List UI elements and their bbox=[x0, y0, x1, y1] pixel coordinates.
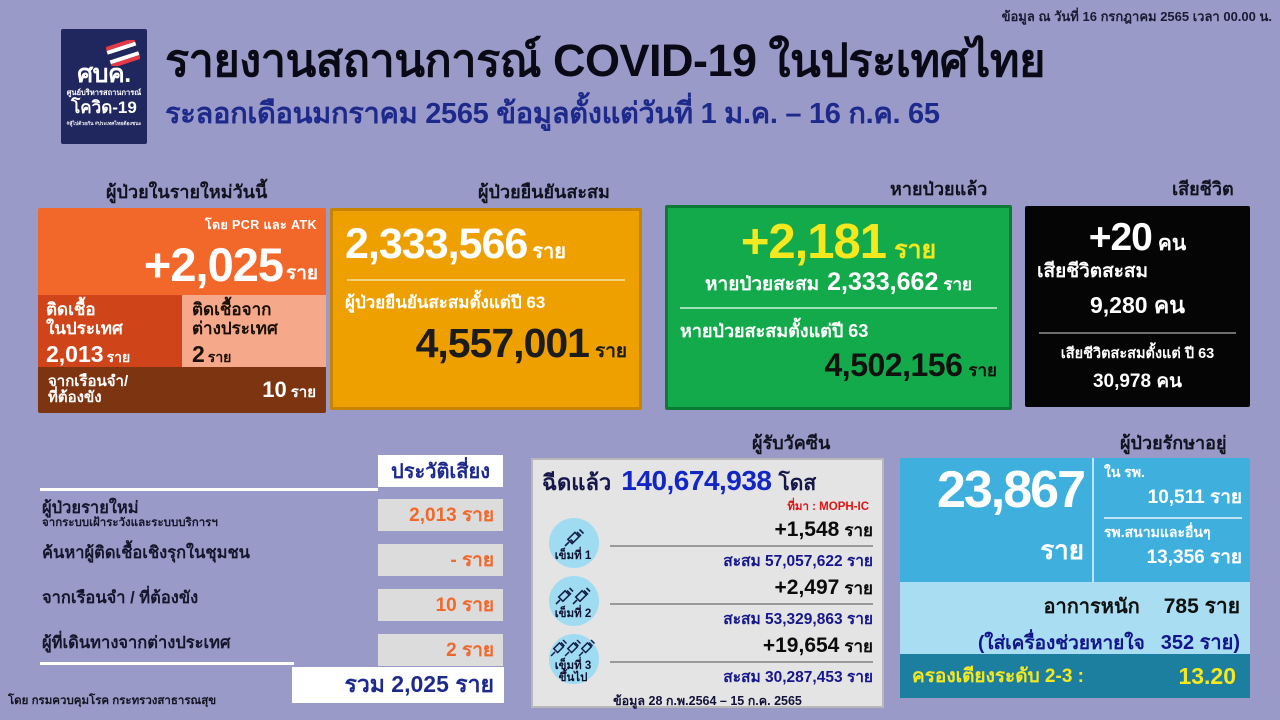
cumulative-since63-label: ผู้ป่วยยืนยันสะสมตั้งแต่ปี 63 bbox=[345, 289, 627, 316]
divider bbox=[1039, 332, 1236, 334]
prison-value-block: 10ราย bbox=[262, 377, 316, 404]
risk-row: จากเรือนจำ / ที่ต้องขัง 10 ราย bbox=[34, 589, 504, 627]
new-cases-method-note: โดย PCR และ ATK bbox=[205, 215, 317, 235]
domestic-cases-cell: ติดเชื้อ ในประเทศ 2,013ราย bbox=[38, 295, 182, 367]
recovered-value-block: +2,181ราย bbox=[680, 214, 997, 270]
bed-occupancy-row: ครองเตียงระดับ 2-3 : 13.20 bbox=[900, 654, 1250, 698]
dose-3-numbers: +19,654ราย สะสม 30,287,453 ราย bbox=[604, 633, 873, 689]
dose-2-label-line1: เข็มที่ 2 bbox=[555, 608, 592, 620]
caption-vaccine: ผู้รับวัคซีน bbox=[752, 434, 830, 452]
divider bbox=[40, 662, 294, 665]
page-subtitle: ระลอกเดือนมกราคม 2565 ข้อมูลตั้งแต่วันที… bbox=[165, 99, 1265, 131]
page-title: รายงานสถานการณ์ COVID-19 ในประเทศไทย bbox=[165, 37, 1265, 86]
recovered-since63-unit: ราย bbox=[968, 361, 997, 380]
risk-row-label: จากเรือนจำ / ที่ต้องขัง bbox=[42, 589, 372, 607]
recovered-since63-label: หายป่วยสะสมตั้งแต่ปี 63 bbox=[680, 316, 997, 345]
vaccine-injected-value: 140,674,938 bbox=[621, 465, 771, 497]
dose-1-new-value: +1,548 bbox=[775, 518, 840, 541]
imported-unit: ราย bbox=[208, 349, 232, 365]
divider bbox=[610, 661, 873, 663]
dose-3-label: เข็มที่ 3 ขึ้นไป bbox=[555, 660, 592, 684]
vaccine-injected-label: ฉีดแล้ว bbox=[542, 465, 611, 500]
card-vaccine: ฉีดแล้ว 140,674,938 โดส ที่มา : MOPH-IC … bbox=[531, 458, 884, 708]
syringe-icon bbox=[560, 528, 586, 550]
card-treatment: 23,867 ราย ใน รพ. 10,511 ราย รพ.สนามและอ… bbox=[900, 458, 1250, 706]
logo-hashtags: #สู้ไปด้วยกัน #ประเทศไทยต้องชนะ bbox=[67, 121, 142, 127]
domestic-value-block: 2,013ราย bbox=[46, 341, 174, 369]
divider bbox=[40, 488, 378, 491]
deaths-value-block: +20คน bbox=[1037, 216, 1238, 260]
dose-3-label-line2: ขึ้นไป bbox=[559, 672, 588, 684]
infographic-root: ข้อมูล ณ วันที่ 16 กรกฎาคม 2565 เวลา 00.… bbox=[0, 0, 1280, 720]
imported-cases-cell: ติดเชื้อจาก ต่างประเทศ 2ราย bbox=[182, 295, 326, 367]
recovered-since63-block: 4,502,156ราย bbox=[680, 347, 997, 384]
cumulative-since63-block: 4,557,001ราย bbox=[345, 320, 627, 367]
ventilator-label: (ใส่เครื่องช่วยหายใจ bbox=[978, 628, 1145, 658]
dose-1-cumulative: สะสม 57,057,622 ราย bbox=[610, 548, 873, 573]
hospital-value: 10,511 ราย bbox=[1104, 482, 1242, 512]
dose-1-new-unit: ราย bbox=[844, 521, 873, 540]
deaths-since63-value: 30,978 คน bbox=[1037, 366, 1238, 396]
risk-row-label-main: ค้นหาผู้ติดเชื้อเชิงรุกในชุมชน bbox=[42, 544, 372, 562]
cumulative-since63-value: 4,557,001 bbox=[416, 320, 589, 366]
card-recovered: +2,181ราย หายป่วยสะสม2,333,662ราย หายป่ว… bbox=[665, 205, 1012, 410]
severe-row: อาการหนัก 785 ราย bbox=[910, 590, 1240, 623]
divider bbox=[680, 307, 997, 309]
recovered-cum-value: 2,333,662 bbox=[827, 268, 938, 296]
vaccine-dose-row: เข็มที่ 1 +1,548ราย สะสม 57,057,622 ราย bbox=[542, 516, 873, 574]
imported-label-line2: ต่างประเทศ bbox=[192, 319, 318, 338]
risk-history-section: ประวัติเสี่ยง ผู้ป่วยรายใหม่ จากระบบเฝ้า… bbox=[34, 455, 504, 705]
vaccine-headline: ฉีดแล้ว 140,674,938 โดส bbox=[542, 465, 873, 500]
divider bbox=[610, 603, 873, 605]
vaccine-dose-row: เข็มที่ 3 ขึ้นไป +19,654ราย สะสม 30,287,… bbox=[542, 632, 873, 690]
new-cases-breakdown: ติดเชื้อ ในประเทศ 2,013ราย ติดเชื้อจาก ต… bbox=[38, 295, 326, 367]
risk-row-value: 10 ราย bbox=[378, 589, 503, 621]
deaths-since63-label: เสียชีวิตสะสมตั้งแต่ ปี 63 bbox=[1037, 342, 1238, 365]
new-cases-value-block: +2,025ราย bbox=[38, 237, 318, 292]
bed-occupancy-value: 13.20 bbox=[1178, 663, 1236, 690]
domestic-value: 2,013 bbox=[46, 341, 104, 367]
logo-acronym: ศบค. bbox=[77, 62, 130, 87]
prison-cases-cell: จากเรือนจำ/ ที่ต้องขัง 10ราย bbox=[38, 367, 326, 413]
domestic-label-line1: ติดเชื้อ bbox=[46, 300, 174, 319]
deaths-value: +20 bbox=[1089, 216, 1152, 259]
risk-row-label: ผู้ที่เดินทางจากต่างประเทศ bbox=[42, 634, 372, 652]
prison-label-line2: ที่ต้องขัง bbox=[48, 390, 262, 407]
deaths-unit: คน bbox=[1158, 232, 1186, 255]
dose-1-label: เข็มที่ 1 bbox=[555, 550, 592, 562]
dose-3-icon-group: เข็มที่ 3 ขึ้นไป bbox=[542, 634, 604, 688]
field-hospital-label: รพ.สนามและอื่นๆ bbox=[1104, 524, 1242, 540]
cumulative-value: 2,333,566 bbox=[345, 220, 527, 268]
divider bbox=[610, 545, 873, 547]
thai-flag-icon bbox=[106, 40, 140, 66]
cumulative-since63-unit: ราย bbox=[595, 341, 627, 362]
deaths-cum-label: เสียชีวิตสะสม bbox=[1037, 256, 1238, 286]
cumulative-value-block: 2,333,566ราย bbox=[345, 220, 627, 269]
risk-row-label: ค้นหาผู้ติดเชื้อเชิงรุกในชุมชน bbox=[42, 544, 372, 562]
caption-deaths: เสียชีวิต bbox=[1172, 180, 1234, 198]
treatment-severe-section: อาการหนัก 785 ราย (ใส่เครื่องช่วยหายใจ 3… bbox=[900, 582, 1250, 654]
risk-history-total: รวม 2,025 ราย bbox=[292, 667, 504, 703]
vaccine-injected-unit: โดส bbox=[779, 467, 817, 500]
vaccine-dose-row: เข็มที่ 2 +2,497ราย สะสม 53,329,863 ราย bbox=[542, 574, 873, 632]
dose-3-new-unit: ราย bbox=[844, 637, 873, 656]
risk-row-label: ผู้ป่วยรายใหม่ จากระบบเฝ้าระวังและระบบบร… bbox=[42, 499, 372, 530]
caption-recovered: หายป่วยแล้ว bbox=[890, 180, 987, 198]
data-timestamp: ข้อมูล ณ วันที่ 16 กรกฎาคม 2565 เวลา 00.… bbox=[900, 6, 1272, 27]
divider bbox=[347, 279, 625, 281]
cccsa-logo: ศบค. ศูนย์บริหารสถานการณ์ โควิด-19 #สู้ไ… bbox=[61, 29, 147, 144]
risk-row-label-main: จากเรือนจำ / ที่ต้องขัง bbox=[42, 589, 372, 607]
severe-label: อาการหนัก bbox=[1043, 590, 1139, 622]
hospital-label: ใน รพ. bbox=[1104, 464, 1242, 480]
new-cases-unit: ราย bbox=[286, 263, 318, 284]
dose-1-new-block: +1,548ราย bbox=[610, 517, 873, 544]
risk-row-label-main: ผู้ป่วยรายใหม่ bbox=[42, 499, 372, 517]
syringe-icon bbox=[554, 586, 592, 608]
card-new-cases: โดย PCR และ ATK +2,025ราย ติดเชื้อ ในประ… bbox=[38, 208, 326, 413]
risk-row-label-sub: จากระบบเฝ้าระวังและระบบบริการฯ bbox=[42, 517, 372, 530]
dose-2-new-block: +2,497ราย bbox=[610, 575, 873, 602]
dose-2-cumulative: สะสม 53,329,863 ราย bbox=[610, 606, 873, 631]
recovered-since63-value: 4,502,156 bbox=[825, 347, 963, 383]
dose-2-icon-group: เข็มที่ 2 bbox=[542, 576, 604, 630]
treatment-total-value: 23,867 bbox=[904, 464, 1084, 516]
prison-label: จากเรือนจำ/ ที่ต้องขัง bbox=[48, 374, 262, 407]
prison-value: 10 bbox=[262, 377, 286, 402]
recovered-value: +2,181 bbox=[741, 215, 886, 269]
risk-history-header: ประวัติเสี่ยง bbox=[378, 455, 503, 487]
logo-subtitle: ศูนย์บริหารสถานการณ์ bbox=[67, 88, 141, 97]
deaths-cum-value: 9,280 คน bbox=[1037, 288, 1238, 324]
caption-cumulative: ผู้ป่วยยืนยันสะสม bbox=[478, 183, 610, 201]
bed-occupancy-label: ครองเตียงระดับ 2-3 : bbox=[912, 661, 1178, 691]
domestic-label-line2: ในประเทศ bbox=[46, 319, 174, 338]
dose-2-new-value: +2,497 bbox=[775, 576, 840, 599]
new-cases-value: +2,025 bbox=[144, 238, 283, 291]
risk-row-value: 2 ราย bbox=[378, 634, 503, 666]
treatment-breakdown: ใน รพ. 10,511 ราย รพ.สนามและอื่นๆ 13,356… bbox=[1092, 458, 1250, 582]
risk-row: ผู้ป่วยรายใหม่ จากระบบเฝ้าระวังและระบบบร… bbox=[34, 499, 504, 537]
caption-new-cases: ผู้ป่วยในรายใหม่วันนี้ bbox=[106, 183, 267, 201]
dose-3-new-value: +19,654 bbox=[763, 634, 840, 657]
prison-unit: ราย bbox=[291, 384, 316, 401]
recovered-unit: ราย bbox=[894, 236, 936, 264]
imported-label-line1: ติดเชื้อจาก bbox=[192, 300, 318, 319]
caption-treatment: ผู้ป่วยรักษาอยู่ bbox=[1120, 434, 1227, 452]
dose-3-cumulative: สะสม 30,287,453 ราย bbox=[610, 664, 873, 689]
recovered-cumulative-block: หายป่วยสะสม2,333,662ราย bbox=[680, 268, 997, 299]
dose-2-new-unit: ราย bbox=[844, 579, 873, 598]
risk-row: ค้นหาผู้ติดเชื้อเชิงรุกในชุมชน - ราย bbox=[34, 544, 504, 582]
card-cumulative-confirmed: 2,333,566ราย ผู้ป่วยยืนยันสะสมตั้งแต่ปี … bbox=[330, 208, 642, 410]
field-hospital-value: 13,356 ราย bbox=[1104, 542, 1242, 572]
ventilator-value: 352 ราย) bbox=[1161, 626, 1240, 658]
domestic-unit: ราย bbox=[107, 349, 131, 365]
recovered-cum-label: หายป่วยสะสม bbox=[705, 274, 819, 295]
dose-1-numbers: +1,548ราย สะสม 57,057,622 ราย bbox=[604, 517, 873, 573]
vaccine-footnote: ข้อมูล 28 ก.พ.2564 – 15 ก.ค. 2565 bbox=[542, 691, 873, 711]
divider bbox=[1104, 517, 1242, 519]
dose-3-label-line1: เข็มที่ 3 bbox=[555, 660, 592, 672]
treatment-total-block: 23,867 ราย bbox=[900, 458, 1092, 582]
treatment-top: 23,867 ราย ใน รพ. 10,511 ราย รพ.สนามและอ… bbox=[900, 458, 1250, 582]
source-footer: โดย กรมควบคุมโรค กระทรวงสาธารณสุข bbox=[8, 692, 216, 710]
treatment-total-unit: ราย bbox=[904, 530, 1084, 571]
imported-value-block: 2ราย bbox=[192, 341, 318, 369]
risk-row-label-main: ผู้ที่เดินทางจากต่างประเทศ bbox=[42, 634, 372, 652]
dose-1-label-line1: เข็มที่ 1 bbox=[555, 550, 592, 562]
vaccine-source-note: ที่มา : MOPH-IC bbox=[542, 498, 873, 516]
logo-covid-label: โควิด-19 bbox=[71, 99, 137, 118]
imported-value: 2 bbox=[192, 341, 205, 367]
dose-2-numbers: +2,497ราย สะสม 53,329,863 ราย bbox=[604, 575, 873, 631]
dose-3-new-block: +19,654ราย bbox=[610, 633, 873, 660]
prison-label-line1: จากเรือนจำ/ bbox=[48, 374, 262, 391]
new-cases-headline: โดย PCR และ ATK +2,025ราย bbox=[38, 208, 326, 295]
cumulative-unit: ราย bbox=[532, 241, 566, 263]
risk-row-value: 2,013 ราย bbox=[378, 499, 503, 531]
recovered-cum-unit: ราย bbox=[943, 275, 972, 294]
risk-row-value: - ราย bbox=[378, 544, 503, 576]
severe-value: 785 ราย bbox=[1164, 590, 1240, 623]
dose-2-label: เข็มที่ 2 bbox=[555, 608, 592, 620]
syringe-icon bbox=[550, 638, 596, 660]
card-deaths: +20คน เสียชีวิตสะสม 9,280 คน เสียชีวิตสะ… bbox=[1025, 206, 1250, 407]
dose-1-icon-group: เข็มที่ 1 bbox=[542, 518, 604, 572]
